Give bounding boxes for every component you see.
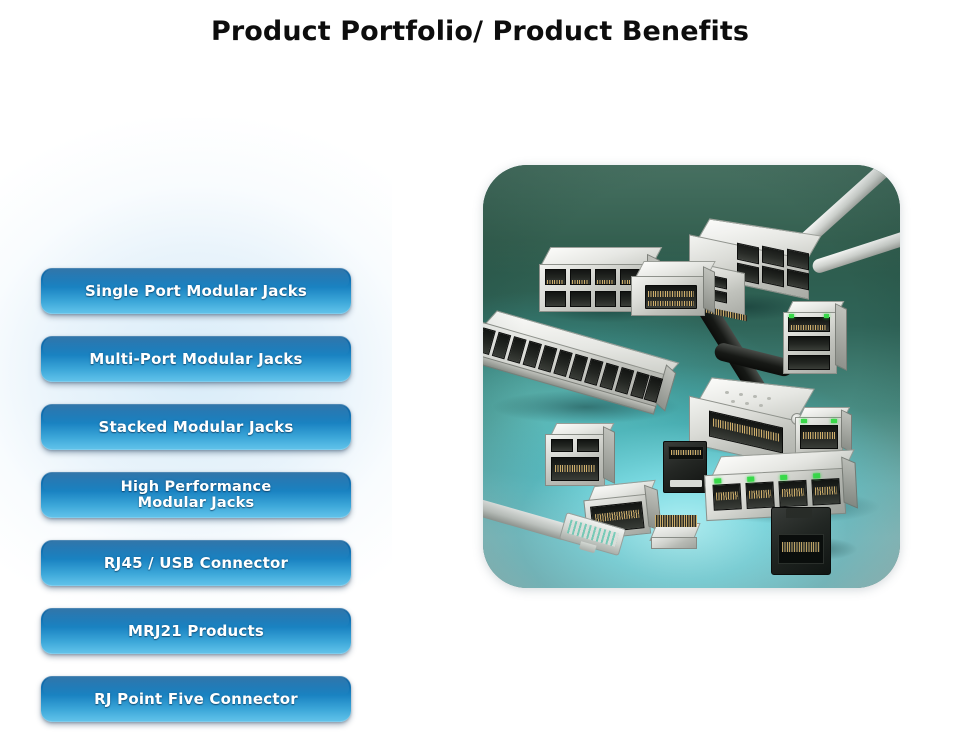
led-indicator — [714, 478, 721, 483]
nav-button-label: RJ Point Five Connector — [94, 691, 298, 708]
nav-button-rj45-usb-connector[interactable]: RJ45 / USB Connector — [41, 540, 351, 586]
nav-panel: Single Port Modular Jacks Multi-Port Mod… — [0, 118, 392, 626]
nav-button-label: MRJ21 Products — [128, 623, 264, 640]
black-modular-jack-small — [663, 441, 707, 493]
led-indicator — [780, 475, 787, 480]
led-indicator — [747, 477, 754, 482]
led-indicator — [789, 314, 794, 318]
page-title: Product Portfolio/ Product Benefits — [0, 16, 960, 47]
mrj21-connector-center — [629, 261, 719, 323]
nav-button-label: RJ45 / USB Connector — [104, 555, 288, 572]
nav-button-label: Multi-Port Modular Jacks — [89, 351, 302, 368]
nav-button-single-port-modular-jacks[interactable]: Single Port Modular Jacks — [41, 268, 351, 314]
product-family-photo — [483, 165, 900, 588]
nav-button-stacked-modular-jacks[interactable]: Stacked Modular Jacks — [41, 404, 351, 450]
nav-button-high-performance-modular-jacks[interactable]: High Performance Modular Jacks — [41, 472, 351, 518]
nav-button-label: Stacked Modular Jacks — [99, 419, 294, 436]
led-indicator — [824, 314, 829, 318]
nav-button-mrj21-products[interactable]: MRJ21 Products — [41, 608, 351, 654]
nav-button-multi-port-modular-jacks[interactable]: Multi-Port Modular Jacks — [41, 336, 351, 382]
rj-point-five-black-jack — [771, 507, 831, 575]
led-indicator — [831, 419, 837, 423]
nav-button-label: High Performance Modular Jacks — [121, 479, 272, 511]
nav-button-label: Single Port Modular Jacks — [85, 283, 307, 300]
nav-button-rj-point-five-connector[interactable]: RJ Point Five Connector — [41, 676, 351, 722]
pin-header-connector — [649, 515, 703, 555]
led-indicator — [801, 419, 807, 423]
nav-button-stack: Single Port Modular Jacks Multi-Port Mod… — [41, 268, 351, 744]
stacked-jack-3-port-led — [783, 301, 849, 383]
led-indicator — [813, 473, 820, 478]
